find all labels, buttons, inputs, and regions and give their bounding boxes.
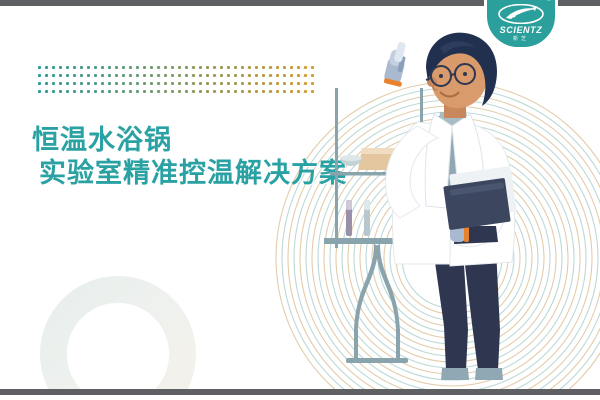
dot-grid-dot [87,82,90,85]
dot-grid-dot [45,66,48,69]
dot-grid-dot [220,90,223,93]
dot-grid-dot [171,74,174,77]
bottom-chrome-pad [0,395,600,400]
dot-grid-dot [115,74,118,77]
dot-grid-dot [157,74,160,77]
dot-grid-dot [255,90,258,93]
scientz-swoosh-icon [498,4,544,24]
dot-grid-dot [136,66,139,69]
dot-grid-dot [220,82,223,85]
dot-grid-dot [157,90,160,93]
dot-grid-dot [87,66,90,69]
dot-grid-dot [80,90,83,93]
dot-grid-dot [80,66,83,69]
dot-grid-dot [143,74,146,77]
shoe-right [475,368,503,380]
dot-grid-dot [199,66,202,69]
clipboard [443,166,517,230]
dot-grid-dot [262,66,265,69]
dot-grid-dot [262,82,265,85]
dot-grid-dot [283,90,286,93]
dot-grid-dot [269,66,272,69]
dot-grid-dot [213,82,216,85]
dot-grid-dot [87,90,90,93]
dot-grid-dot [115,82,118,85]
dot-grid-dot [248,66,251,69]
dot-grid-dot [136,90,139,93]
dot-grid-dot [101,90,104,93]
dot-grid-dot [101,74,104,77]
dot-grid-dot [248,74,251,77]
dot-grid-dot [122,66,125,69]
dot-grid-dot [283,82,286,85]
dot-grid-dot [80,82,83,85]
dot-grid-dot [241,90,244,93]
dot-grid-dot [108,90,111,93]
dot-grid-dot [206,66,209,69]
dot-grid-dot [276,74,279,77]
dot-grid-row [38,90,328,98]
dot-grid-row [38,82,328,90]
dot-grid-dot [52,82,55,85]
dot-grid-dot [234,90,237,93]
dot-grid-dot [164,66,167,69]
dot-grid-dot [129,90,132,93]
dot-grid-dot [122,82,125,85]
dot-grid-dot [213,74,216,77]
dot-grid-dot [234,74,237,77]
dot-grid-dot [38,90,41,93]
dot-grid-dot [178,90,181,93]
dot-grid-dot [178,74,181,77]
dot-grid [38,66,328,98]
dot-grid-dot [164,74,167,77]
dot-grid-dot [38,82,41,85]
dot-grid-dot [122,74,125,77]
dot-grid-dot [129,66,132,69]
registered-mark: ® [547,0,551,3]
logo-wordmark: SCIENTZ [484,25,558,35]
dot-grid-dot [108,74,111,77]
dot-grid-dot [66,82,69,85]
dot-grid-dot [255,66,258,69]
dot-grid-dot [290,82,293,85]
dot-grid-dot [171,82,174,85]
dot-grid-dot [171,90,174,93]
dot-grid-dot [199,90,202,93]
dot-grid-dot [45,90,48,93]
banner-canvas: 恒温水浴锅 实验室精准控温解决方案 [0,0,600,400]
dot-grid-dot [185,66,188,69]
dot-grid-dot [199,74,202,77]
dot-grid-dot [199,82,202,85]
dot-grid-dot [241,66,244,69]
dot-grid-dot [290,74,293,77]
dot-grid-dot [94,74,97,77]
dot-grid-dot [45,74,48,77]
dot-grid-dot [185,74,188,77]
dot-grid-dot [283,74,286,77]
dot-grid-dot [220,74,223,77]
dot-grid-dot [248,90,251,93]
dot-grid-dot [45,82,48,85]
dot-grid-dot [227,82,230,85]
scientist-figure [383,33,517,380]
dot-grid-dot [276,82,279,85]
dot-grid-dot [143,82,146,85]
dot-grid-dot [157,66,160,69]
bottom-chrome-bar [0,389,600,395]
dot-grid-dot [52,90,55,93]
dot-grid-dot [73,90,76,93]
dot-grid-dot [290,66,293,69]
dot-grid-dot [66,66,69,69]
dot-grid-dot [101,82,104,85]
dot-grid-dot [73,66,76,69]
dot-grid-dot [94,66,97,69]
brand-logo[interactable]: ® SCIENTZ 新芝 [484,0,558,50]
dot-grid-dot [122,90,125,93]
dot-grid-dot [136,74,139,77]
dot-grid-dot [143,66,146,69]
dot-grid-dot [38,66,41,69]
dot-grid-dot [283,66,286,69]
dot-grid-dot [94,82,97,85]
dot-grid-dot [206,90,209,93]
dot-grid-dot [129,74,132,77]
bowl [340,155,362,166]
dot-grid-dot [73,82,76,85]
dot-grid-dot [52,74,55,77]
dot-grid-dot [59,66,62,69]
dot-grid-dot [269,82,272,85]
dot-grid-dot [192,74,195,77]
dot-grid-dot [185,90,188,93]
dot-grid-dot [178,82,181,85]
dot-grid-dot [213,90,216,93]
dot-grid-dot [262,74,265,77]
dot-grid-dot [52,66,55,69]
dot-grid-dot [80,74,83,77]
dot-grid-dot [192,90,195,93]
dot-grid-dot [108,82,111,85]
dot-grid-dot [178,66,181,69]
dot-grid-dot [290,90,293,93]
dot-grid-dot [129,82,132,85]
dot-grid-dot [150,74,153,77]
dot-grid-dot [136,82,139,85]
dot-grid-dot [255,82,258,85]
dot-grid-row [38,74,328,82]
dot-grid-dot [206,82,209,85]
dot-grid-dot [248,82,251,85]
eye-right [463,72,467,76]
dot-grid-dot [269,90,272,93]
dot-grid-dot [66,74,69,77]
dot-grid-dot [164,82,167,85]
dot-grid-dot [101,66,104,69]
dot-grid-dot [234,82,237,85]
dot-grid-dot [241,82,244,85]
dot-grid-dot [227,90,230,93]
dot-grid-dot [115,66,118,69]
dot-grid-dot [234,66,237,69]
dot-grid-dot [213,66,216,69]
dot-grid-dot [94,90,97,93]
dot-grid-dot [59,74,62,77]
dot-grid-dot [269,74,272,77]
dot-grid-dot [192,82,195,85]
dot-grid-dot [227,74,230,77]
dot-grid-dot [276,66,279,69]
dot-grid-dot [157,82,160,85]
dot-grid-dot [66,90,69,93]
logo-sub-wordmark: 新芝 [484,35,558,42]
dot-grid-dot [276,90,279,93]
dot-grid-dot [227,66,230,69]
dot-grid-dot [241,74,244,77]
dot-grid-dot [171,66,174,69]
dot-grid-dot [150,82,153,85]
dot-grid-dot [220,66,223,69]
dot-grid-dot [115,90,118,93]
dot-grid-dot [185,82,188,85]
dot-grid-dot [59,82,62,85]
dot-grid-dot [150,90,153,93]
leg-front [463,248,500,370]
dot-grid-dot [87,74,90,77]
dot-grid-dot [108,66,111,69]
dot-grid-dot [73,74,76,77]
eye-left [439,74,443,78]
dot-grid-dot [59,90,62,93]
dot-grid-dot [192,66,195,69]
dot-grid-dot [150,66,153,69]
dot-grid-row [38,66,328,74]
dot-grid-dot [255,74,258,77]
dot-grid-dot [206,74,209,77]
dot-grid-dot [38,74,41,77]
dot-grid-dot [143,90,146,93]
shoe-left [441,368,469,380]
dot-grid-dot [164,90,167,93]
lab-scientist-illustration [300,30,600,400]
dot-grid-dot [262,90,265,93]
